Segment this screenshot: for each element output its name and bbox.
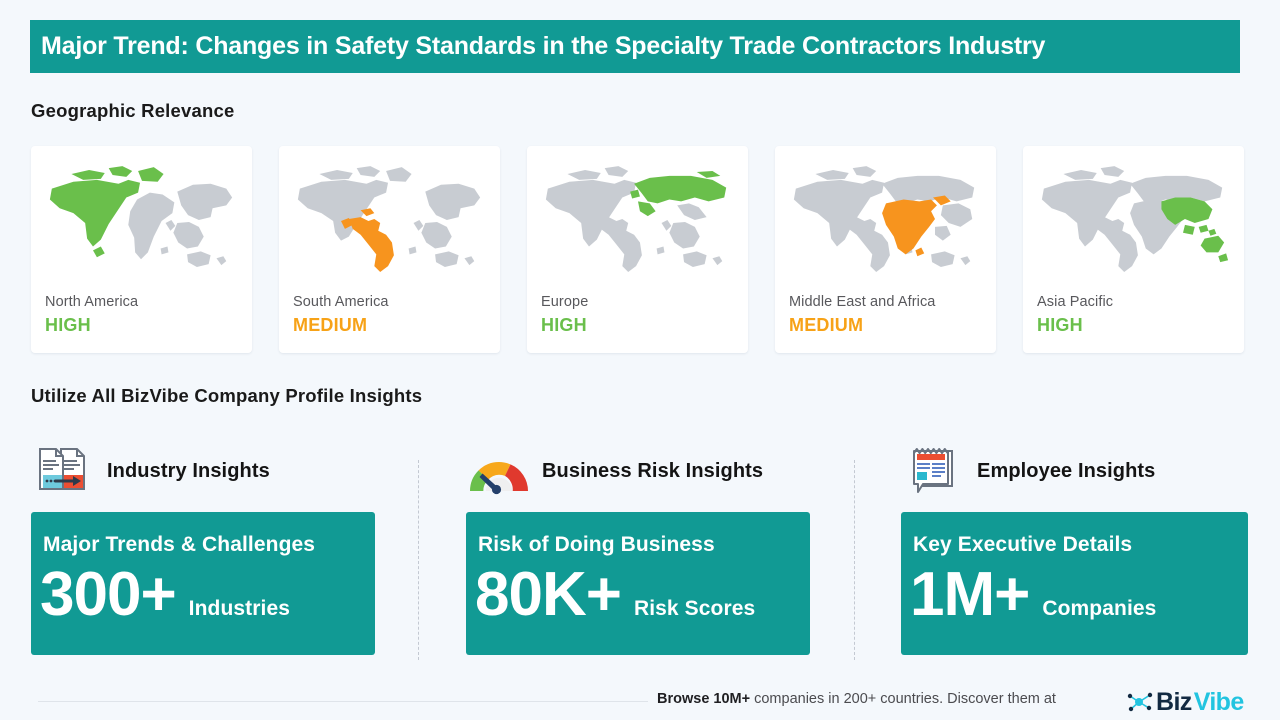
insights-divider [418,460,419,660]
newspaper-speech-bubble-icon [901,443,967,499]
geo-card-europe[interactable]: Europe HIGH [527,146,748,353]
bizvibe-network-node-icon [1126,689,1154,715]
stat-title: Risk of Doing Business [478,533,715,557]
geographic-relevance-heading: Geographic Relevance [31,100,234,122]
stat-figure: 80K+ Risk Scores [475,564,755,626]
world-map-south-america-highlighted [292,162,488,280]
footer-text: Browse 10M+ companies in 200+ countries.… [657,691,1056,707]
geo-card-middle-east-africa[interactable]: Middle East and Africa MEDIUM [775,146,996,353]
insight-header: Business Risk Insights [466,440,840,502]
stat-number: 300+ [40,564,176,626]
insight-column-risk: Business Risk Insights Risk of Doing Bus… [466,440,840,665]
stat-unit: Companies [1042,597,1156,621]
stat-number: 80K+ [475,564,621,626]
geo-card-south-america[interactable]: South America MEDIUM [279,146,500,353]
header-banner: Major Trend: Changes in Safety Standards… [30,20,1240,73]
geo-card-asia-pacific[interactable]: Asia Pacific HIGH [1023,146,1244,353]
stat-unit: Industries [189,597,290,621]
world-map-europe-highlighted [540,162,736,280]
world-map-asia-pacific-highlighted [1036,162,1232,280]
stat-title: Key Executive Details [913,533,1132,557]
geo-card-label: South America [293,294,389,310]
footer-browse-count: Browse 10M+ [657,691,750,707]
insight-title: Business Risk Insights [542,460,763,483]
stat-title: Major Trends & Challenges [43,533,315,557]
footer: Browse 10M+ companies in 200+ countries.… [0,687,1280,720]
logo-text-vibe: Vibe [1194,688,1244,717]
stat-figure: 300+ Industries [40,564,290,626]
poster-root: Major Trend: Changes in Safety Standards… [0,0,1280,720]
bizvibe-logo[interactable]: BizVibe [1126,687,1244,717]
insight-header: Employee Insights [901,440,1275,502]
insights-heading: Utilize All BizVibe Company Profile Insi… [31,385,422,407]
world-map-north-america-highlighted [44,162,240,280]
insights-divider [854,460,855,660]
geo-card-value: HIGH [541,315,587,336]
world-map-middle-east-africa-highlighted [788,162,984,280]
stat-card-industry: Major Trends & Challenges 300+ Industrie… [31,512,375,655]
geo-card-value: HIGH [45,315,91,336]
documents-transfer-icon [31,443,97,499]
stat-card-employee: Key Executive Details 1M+ Companies [901,512,1248,655]
stat-number: 1M+ [910,564,1029,626]
insight-header: Industry Insights [31,440,405,502]
geo-card-north-america[interactable]: North America HIGH [31,146,252,353]
geo-card-label: Asia Pacific [1037,294,1113,310]
stat-unit: Risk Scores [634,597,755,621]
logo-text-biz: Biz [1156,688,1192,717]
geo-card-value: MEDIUM [293,315,367,336]
insights-row: Industry Insights Major Trends & Challen… [0,440,1280,665]
insight-title: Industry Insights [107,460,270,483]
geo-card-label: North America [45,294,138,310]
geo-card-value: MEDIUM [789,315,863,336]
geo-card-label: Middle East and Africa [789,294,935,310]
insight-title: Employee Insights [977,460,1155,483]
page-title: Major Trend: Changes in Safety Standards… [30,32,1045,61]
insight-column-employee: Employee Insights Key Executive Details … [901,440,1275,665]
footer-divider [38,701,648,702]
insight-column-industry: Industry Insights Major Trends & Challen… [31,440,405,665]
stat-figure: 1M+ Companies [910,564,1156,626]
stat-card-risk: Risk of Doing Business 80K+ Risk Scores [466,512,810,655]
geo-card-label: Europe [541,294,588,310]
footer-browse-rest: companies in 200+ countries. Discover th… [750,691,1056,707]
geographic-relevance-cards: North America HIGH [31,146,1244,353]
risk-gauge-icon [466,443,532,499]
geo-card-value: HIGH [1037,315,1083,336]
